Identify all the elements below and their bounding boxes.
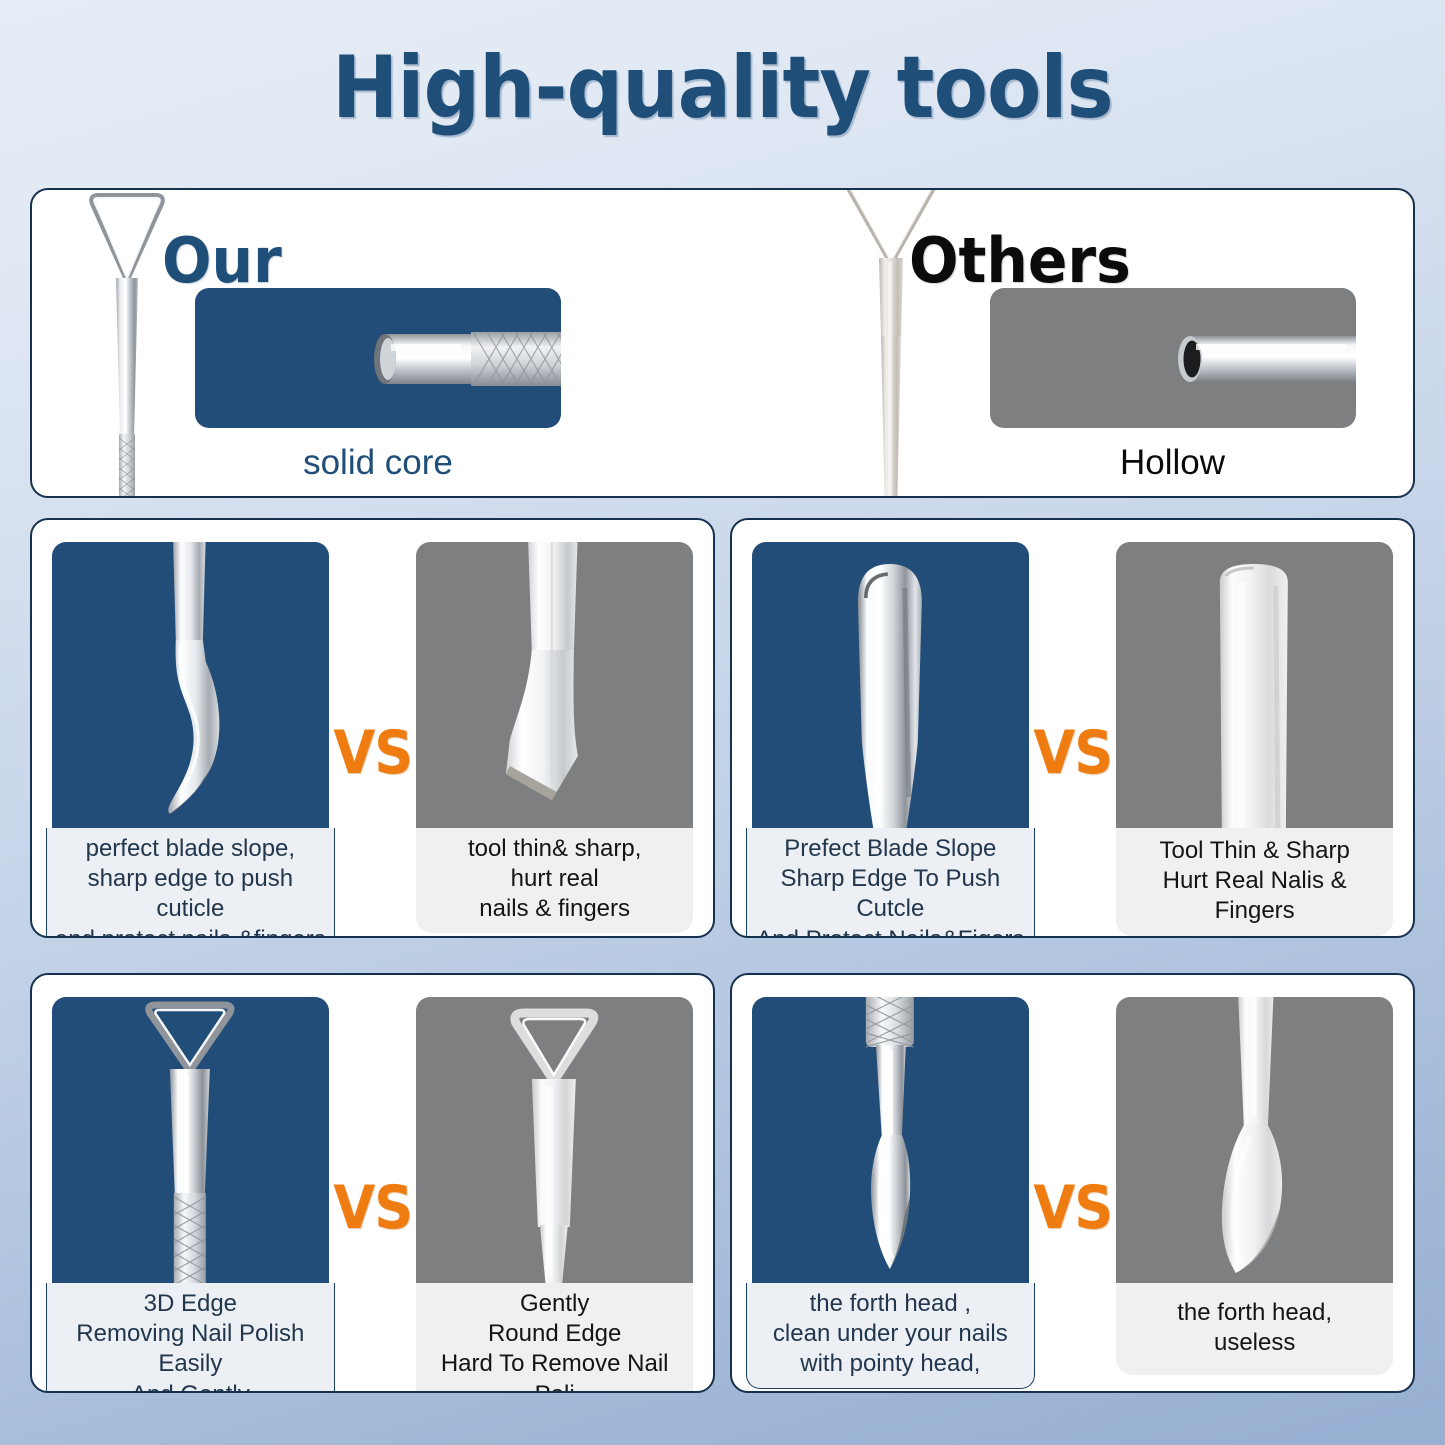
comparison-card-blade-slope: perfect blade slope, sharp edge to push … xyxy=(30,518,715,938)
solid-core-caption: solid core xyxy=(195,445,561,480)
our-forth-head-caption: the forth head , clean under your nails … xyxy=(746,1283,1035,1389)
hollow-swatch xyxy=(990,288,1356,428)
curved-blade-icon xyxy=(52,542,329,832)
our-triangle-edge-tool-photo xyxy=(52,997,329,1287)
blunt-spoon-icon xyxy=(1116,997,1393,1287)
comparison-card-pusher-head: Prefect Blade Slope Sharp Edge To Push C… xyxy=(730,518,1415,938)
comparison-card-3d-edge: 3D Edge Removing Nail Polish Easily And … xyxy=(30,973,715,1393)
hollow-caption: Hollow xyxy=(990,445,1356,480)
our-pusher-caption: Prefect Blade Slope Sharp Edge To Push C… xyxy=(746,828,1035,938)
others-3d-edge-caption: Gently Round Edge Hard To Remove Nail Po… xyxy=(416,1283,693,1393)
our-heading: Our xyxy=(162,230,282,292)
page-title: High-quality tools xyxy=(332,38,1113,138)
top-panel-theirs: Others Hollow xyxy=(723,190,1414,496)
comparison-row-1: perfect blade slope, sharp edge to push … xyxy=(30,518,1415,938)
vs-label: VS xyxy=(1033,718,1112,788)
others-triangle-edge-tool-photo xyxy=(416,997,693,1287)
solid-core-vs-hollow-panel: Our xyxy=(30,188,1415,498)
solid-core-rod-image xyxy=(195,288,561,428)
hollow-tube-image xyxy=(990,288,1356,428)
others-heading: Others xyxy=(909,230,1131,292)
ours-side: 3D Edge Removing Nail Polish Easily And … xyxy=(52,997,329,1373)
others-blunt-spoon-head-photo xyxy=(1116,997,1393,1287)
others-blade-caption: tool thin& sharp, hurt real nails & fing… xyxy=(416,828,693,933)
our-pointy-spoon-head-photo xyxy=(752,997,1029,1287)
vs-label: VS xyxy=(333,718,412,788)
round-edge-tool-icon xyxy=(416,997,693,1287)
top-panel-ours: Our xyxy=(32,190,723,496)
vs-label: VS xyxy=(1033,1173,1112,1243)
square-pusher-icon xyxy=(1116,542,1393,832)
others-flat-blade-head-photo xyxy=(416,542,693,832)
ours-side: perfect blade slope, sharp edge to push … xyxy=(52,542,329,918)
vs-label: VS xyxy=(333,1173,412,1243)
rounded-pusher-icon xyxy=(752,542,1029,832)
others-pusher-caption: Tool Thin & Sharp Hurt Real Nalis & Fing… xyxy=(1116,828,1393,936)
others-forth-head-caption: the forth head, useless xyxy=(1116,1283,1393,1375)
ours-side: the forth head , clean under your nails … xyxy=(752,997,1029,1373)
our-3d-edge-caption: 3D Edge Removing Nail Polish Easily And … xyxy=(46,1283,335,1393)
theirs-side: the forth head, useless xyxy=(1116,997,1393,1373)
title-bar: High-quality tools xyxy=(0,0,1445,175)
pointy-spoon-icon xyxy=(752,997,1029,1287)
comparison-row-2: 3D Edge Removing Nail Polish Easily And … xyxy=(30,973,1415,1393)
comparison-card-forth-head: the forth head , clean under your nails … xyxy=(730,973,1415,1393)
flat-blade-icon xyxy=(416,542,693,832)
our-rounded-pusher-head-photo xyxy=(752,542,1029,832)
triangle-edge-tool-icon xyxy=(52,997,329,1287)
our-curved-blade-head-photo xyxy=(52,542,329,832)
theirs-side: Tool Thin & Sharp Hurt Real Nalis & Fing… xyxy=(1116,542,1393,918)
theirs-side: Gently Round Edge Hard To Remove Nail Po… xyxy=(416,997,693,1373)
others-square-pusher-head-photo xyxy=(1116,542,1393,832)
ours-side: Prefect Blade Slope Sharp Edge To Push C… xyxy=(752,542,1029,918)
solid-core-swatch xyxy=(195,288,561,428)
our-blade-caption: perfect blade slope, sharp edge to push … xyxy=(46,828,335,938)
theirs-side: tool thin& sharp, hurt real nails & fing… xyxy=(416,542,693,918)
